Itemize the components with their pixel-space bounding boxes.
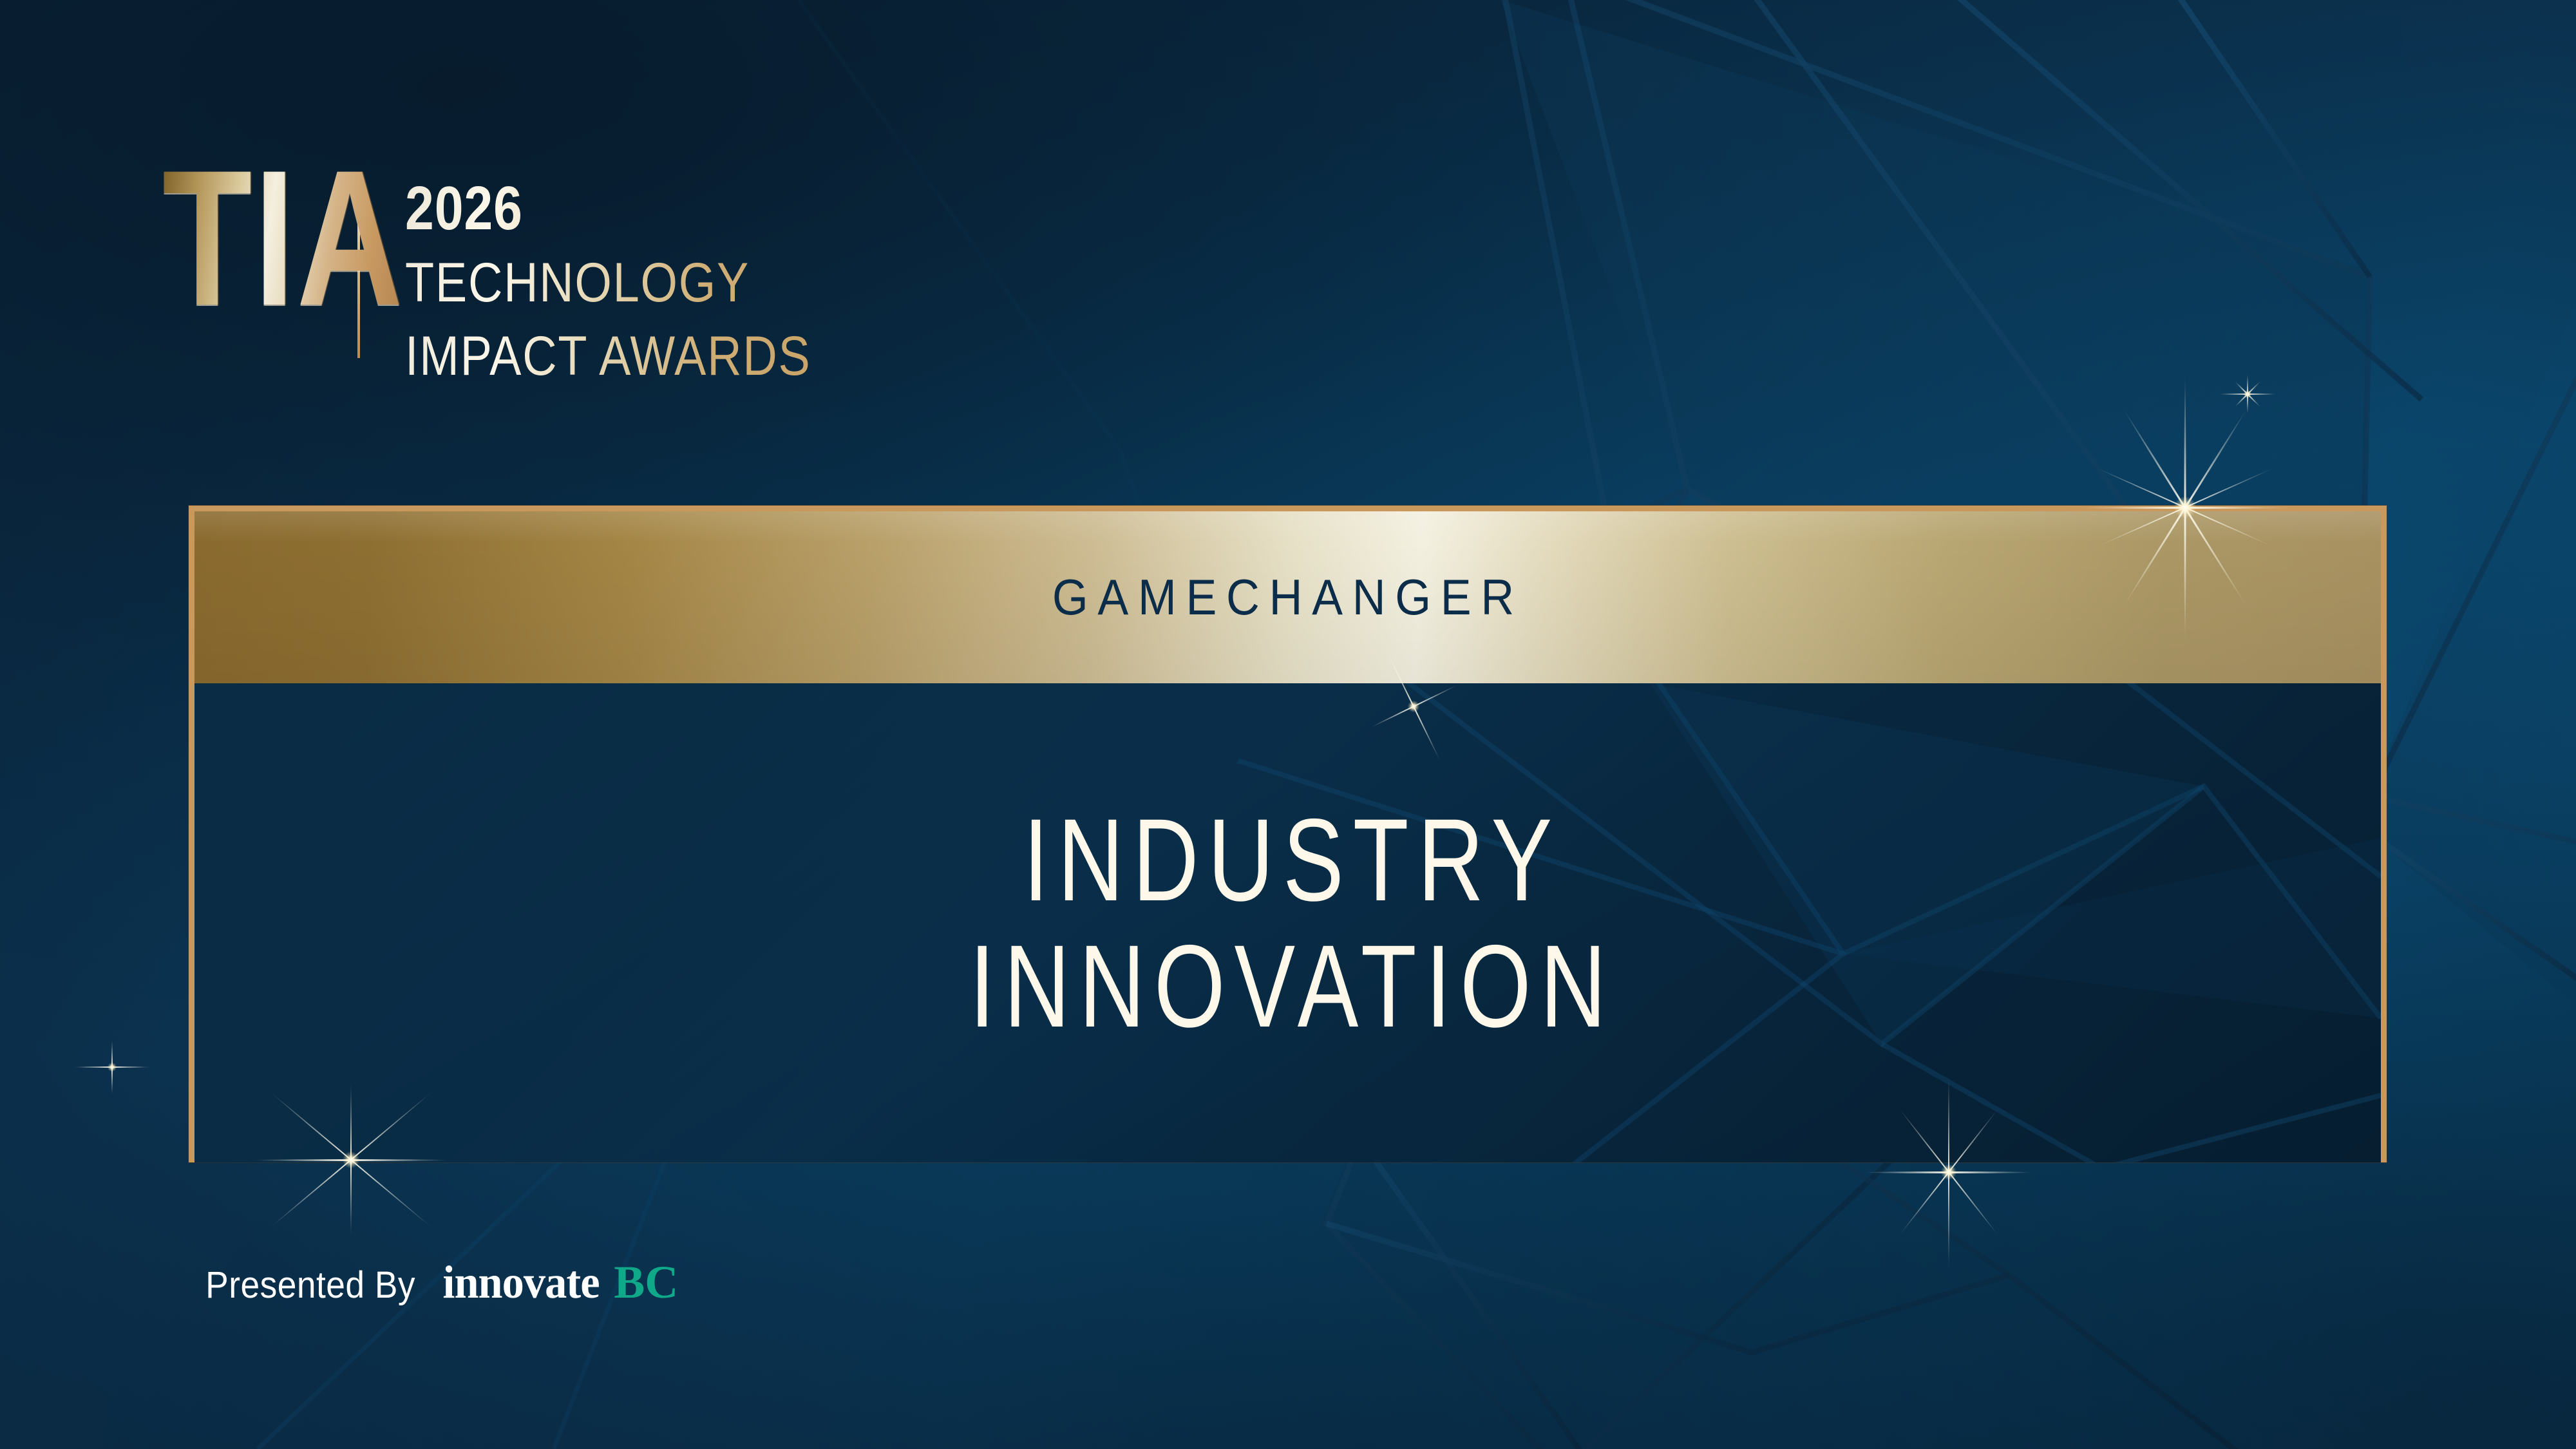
- presented-by-block: Presented By innovate BC: [196, 1256, 678, 1309]
- award-category-label: GAMECHANGER: [1052, 568, 1523, 627]
- logo-line-technology: TECHNOLOGY: [405, 255, 811, 310]
- award-title-line-2: INNOVATION: [960, 927, 1615, 1045]
- logo-text-block: 2026 TECHNOLOGY IMPACT AWARDS: [405, 178, 877, 384]
- logo-year: 2026: [405, 178, 802, 240]
- sponsor-name: innovate: [443, 1256, 600, 1309]
- award-slide: TIA 2026 TECHNOLOGY IMPACT AWARDS GAMECH…: [0, 0, 2576, 1449]
- award-title-line-1: INDUSTRY: [1014, 801, 1561, 918]
- award-card: GAMECHANGER INDU: [189, 506, 2387, 1162]
- tia-logo: TIA 2026 TECHNOLOGY IMPACT AWARDS: [162, 162, 877, 384]
- logo-line-impact-awards: IMPACT AWARDS: [405, 328, 811, 384]
- award-category-banner: GAMECHANGER: [194, 511, 2381, 683]
- tia-wordmark: TIA: [162, 162, 404, 313]
- sponsor-region: BC: [614, 1256, 678, 1309]
- presented-by-label: Presented By: [205, 1264, 415, 1307]
- award-title-panel: INDUSTRY INNOVATION: [194, 683, 2381, 1162]
